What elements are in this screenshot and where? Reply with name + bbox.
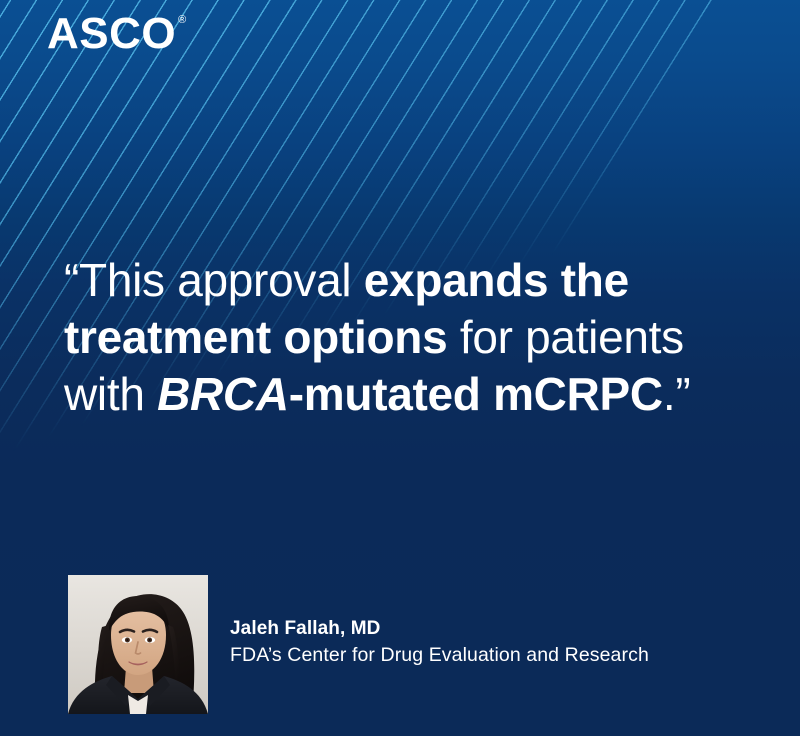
quote-part-plain-3: . — [663, 368, 675, 420]
quote-card: ASCO ® “This approval expands the treatm… — [0, 0, 800, 736]
asco-logo: ASCO ® — [47, 12, 186, 56]
asco-wordmark: ASCO — [47, 12, 176, 56]
speaker-info: Jaleh Fallah, MD FDA’s Center for Drug E… — [230, 616, 649, 673]
quote-part-plain-1: This approval — [79, 254, 364, 306]
attribution-block: Jaleh Fallah, MD FDA’s Center for Drug E… — [68, 575, 649, 714]
quote-part-bold-2: -mutated mCRPC — [289, 368, 663, 420]
speaker-affiliation: FDA’s Center for Drug Evaluation and Res… — [230, 642, 649, 669]
registered-trademark-icon: ® — [178, 15, 186, 26]
portrait-illustration — [68, 575, 208, 714]
quote-part-italic-gene: BRCA — [157, 368, 289, 420]
quote-close-mark: ” — [675, 368, 690, 420]
speaker-name: Jaleh Fallah, MD — [230, 616, 649, 642]
quote-text: “This approval expands the treatment opt… — [64, 252, 704, 423]
speaker-portrait — [68, 575, 208, 714]
quote-open-mark: “ — [64, 254, 79, 306]
